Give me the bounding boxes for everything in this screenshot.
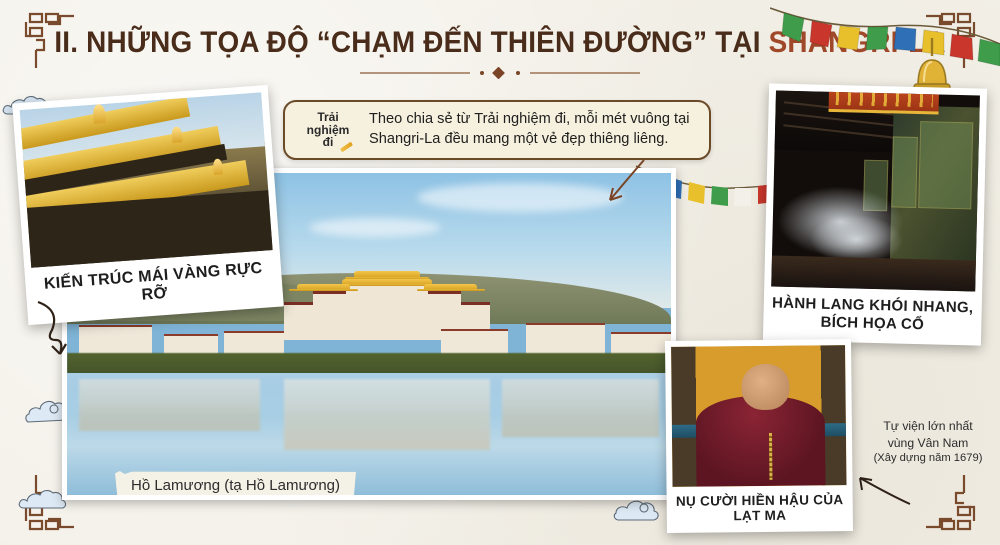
quote-text: Theo chia sẻ từ Trải nghiệm đi, mỗi mét … (369, 110, 689, 149)
brand-badge: Trải nghiệm đi (297, 111, 359, 148)
poster-canvas: II. NHỮNG TỌA ĐỘ “CHẠM ĐẾN THIÊN ĐƯỜNG” … (0, 0, 1000, 545)
annotation-arrow-icon (848, 470, 914, 510)
corridor-banner (829, 91, 940, 115)
lama-photo[interactable]: NỤ CƯỜI HIỀN HẬU CỦA LẠT MA (665, 339, 853, 533)
golden-roof-photo[interactable]: KIẾN TRÚC MÁI VÀNG RỰC RỠ (12, 85, 284, 325)
curly-arrow-icon (30, 296, 80, 368)
corridor-photo[interactable]: HÀNH LANG KHÓI NHANG, BÍCH HỌA CỔ (763, 83, 987, 346)
lama-image (671, 345, 846, 487)
tibetan-prayer-flags-icon (770, 0, 1000, 78)
quote-callout: Trải nghiệm đi Theo chia sẻ từ Trải nghi… (283, 100, 711, 160)
chinese-fret-corner-icon (908, 475, 986, 537)
corridor-image (771, 91, 980, 292)
corridor-caption: HÀNH LANG KHÓI NHANG, BÍCH HỌA CỔ (770, 286, 975, 341)
title-main-text: II. NHỮNG TỌA ĐỘ “CHẠM ĐẾN THIÊN ĐƯỜNG” … (54, 26, 768, 59)
quote-pointer-arrow (600, 158, 650, 206)
lama-caption: NỤ CƯỜI HIỀN HẬU CỦA LẠT MA (673, 485, 847, 530)
monastery-annotation: Tự viện lớn nhất vùng Vân Nam (Xây dựng … (862, 418, 994, 466)
golden-roof-image (20, 92, 273, 267)
lake-tape-label: Hồ Lamương (tạ Hồ Lamương) (115, 471, 356, 500)
